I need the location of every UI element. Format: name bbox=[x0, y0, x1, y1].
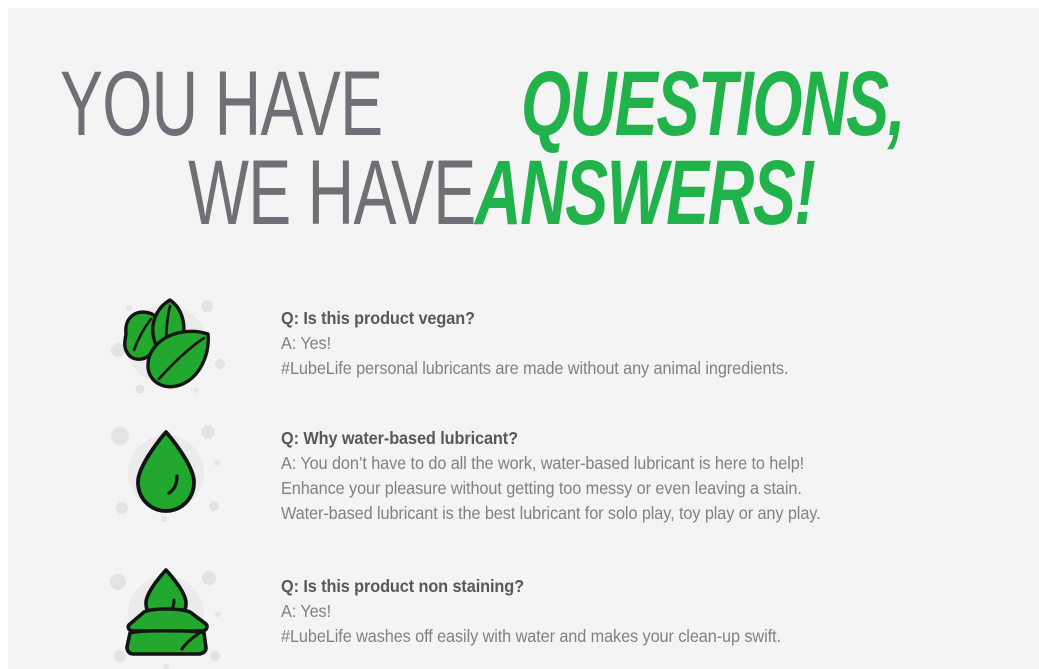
faq-answer-line: #LubeLife personal lubricants are made w… bbox=[281, 356, 788, 381]
faq-answer-line: A: You don’t have to do all the work, wa… bbox=[281, 451, 821, 476]
faq-list: Q: Is this product vegan? A: Yes! #LubeL… bbox=[8, 284, 1039, 664]
headline: YOU HAVE QUESTIONS, WE HAVE ANSWERS! bbox=[8, 60, 960, 238]
faq-text-cell: Q: Is this product vegan? A: Yes! #LubeL… bbox=[176, 284, 827, 381]
headline-questions: QUESTIONS, bbox=[521, 60, 904, 149]
leaves-icon bbox=[104, 290, 228, 396]
droplet-on-towels-icon bbox=[104, 564, 228, 669]
faq-question: Q: Why water-based lubricant? bbox=[281, 426, 821, 451]
faq-icon-cell bbox=[8, 406, 176, 518]
faq-icon-cell bbox=[8, 284, 176, 396]
headline-you-have: YOU HAVE bbox=[60, 60, 382, 149]
faq-question: Q: Is this product non staining? bbox=[281, 574, 781, 599]
faq-text-cell: Q: Why water-based lubricant? A: You don… bbox=[176, 406, 861, 525]
faq-question: Q: Is this product vegan? bbox=[281, 306, 788, 331]
faq-item: Q: Is this product non staining? A: Yes!… bbox=[8, 554, 1039, 664]
faq-answer-line: Enhance your pleasure without getting to… bbox=[281, 476, 821, 501]
faq-answer-line: A: Yes! bbox=[281, 599, 781, 624]
faq-answer-line: #LubeLife washes off easily with water a… bbox=[281, 624, 781, 649]
content-canvas: YOU HAVE QUESTIONS, WE HAVE ANSWERS! bbox=[8, 8, 1039, 669]
headline-answers: ANSWERS! bbox=[475, 149, 814, 238]
faq-item: Q: Why water-based lubricant? A: You don… bbox=[8, 406, 1039, 554]
headline-we-have: WE HAVE bbox=[188, 149, 475, 238]
headline-line-1: YOU HAVE QUESTIONS, bbox=[8, 60, 960, 149]
water-droplet-icon bbox=[104, 418, 228, 524]
faq-text-cell: Q: Is this product non staining? A: Yes!… bbox=[176, 554, 819, 649]
faq-icon-cell bbox=[8, 554, 176, 666]
headline-line-2: WE HAVE ANSWERS! bbox=[8, 149, 960, 238]
faq-item: Q: Is this product vegan? A: Yes! #LubeL… bbox=[8, 284, 1039, 406]
faq-answer-line: Water-based lubricant is the best lubric… bbox=[281, 501, 821, 526]
faq-infographic-page: YOU HAVE QUESTIONS, WE HAVE ANSWERS! bbox=[0, 0, 1039, 669]
faq-answer-line: A: Yes! bbox=[281, 331, 788, 356]
